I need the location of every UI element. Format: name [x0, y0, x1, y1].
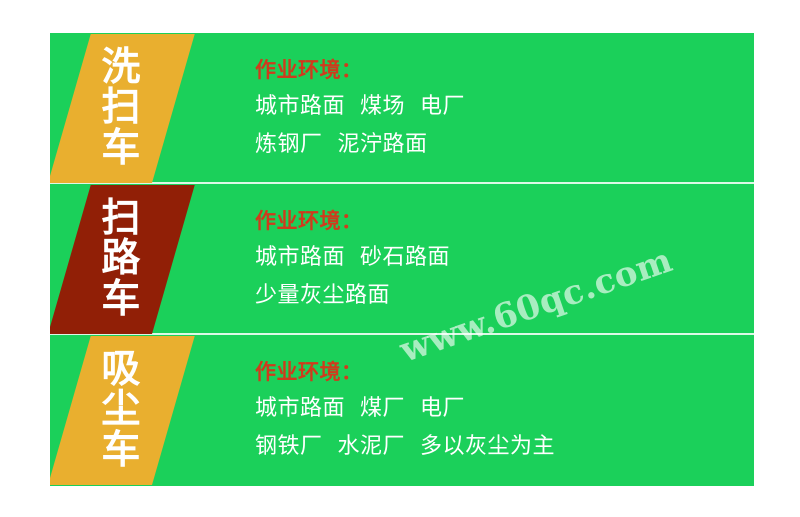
tag-char: 车: [101, 280, 141, 321]
vehicle-tag-2: 扫 路 车: [50, 185, 195, 334]
tag-char: 洗: [101, 48, 141, 89]
environment-line: 城市路面 砂石路面: [255, 241, 750, 275]
vehicle-content-2: 作业环境： 城市路面 砂石路面 少量灰尘路面: [255, 184, 750, 335]
environment-label-2: 作业环境：: [255, 206, 750, 238]
environment-line: 钢铁厂 水泥厂 多以灰尘为主: [255, 430, 750, 464]
environment-line: 城市路面 煤场 电厂: [255, 90, 750, 124]
green-panel: 洗 扫 车 作业环境： 城市路面 煤场 电厂 炼钢厂 泥泞路面 扫 路 车: [50, 33, 754, 486]
environment-label-3: 作业环境：: [255, 357, 750, 389]
vehicle-content-1: 作业环境： 城市路面 煤场 电厂 炼钢厂 泥泞路面: [255, 33, 750, 184]
vehicle-tag-label-1: 洗 扫 车: [69, 34, 173, 183]
environment-line: 少量灰尘路面: [255, 279, 750, 313]
tag-char: 吸: [101, 350, 141, 391]
vehicle-tag-label-3: 吸 尘 车: [69, 336, 173, 485]
environment-line: 炼钢厂 泥泞路面: [255, 128, 750, 162]
vehicle-tag-label-2: 扫 路 车: [69, 185, 173, 334]
tag-char: 车: [101, 129, 141, 170]
tag-char: 扫: [101, 199, 141, 240]
tag-char: 车: [101, 431, 141, 472]
vehicle-row-1: 洗 扫 车 作业环境： 城市路面 煤场 电厂 炼钢厂 泥泞路面: [50, 33, 754, 184]
vehicle-content-3: 作业环境： 城市路面 煤厂 电厂 钢铁厂 水泥厂 多以灰尘为主: [255, 335, 750, 486]
tag-char: 路: [101, 239, 141, 280]
vehicle-row-2: 扫 路 车 作业环境： 城市路面 砂石路面 少量灰尘路面: [50, 184, 754, 335]
environment-label-1: 作业环境：: [255, 55, 750, 87]
vehicle-tag-1: 洗 扫 车: [50, 34, 195, 183]
tag-char: 尘: [101, 390, 141, 431]
tag-char: 扫: [101, 88, 141, 129]
vehicle-tag-3: 吸 尘 车: [50, 336, 195, 485]
infographic-root: 洗 扫 车 作业环境： 城市路面 煤场 电厂 炼钢厂 泥泞路面 扫 路 车: [0, 0, 800, 517]
vehicle-row-3: 吸 尘 车 作业环境： 城市路面 煤厂 电厂 钢铁厂 水泥厂 多以灰尘为主: [50, 335, 754, 486]
environment-line: 城市路面 煤厂 电厂: [255, 392, 750, 426]
